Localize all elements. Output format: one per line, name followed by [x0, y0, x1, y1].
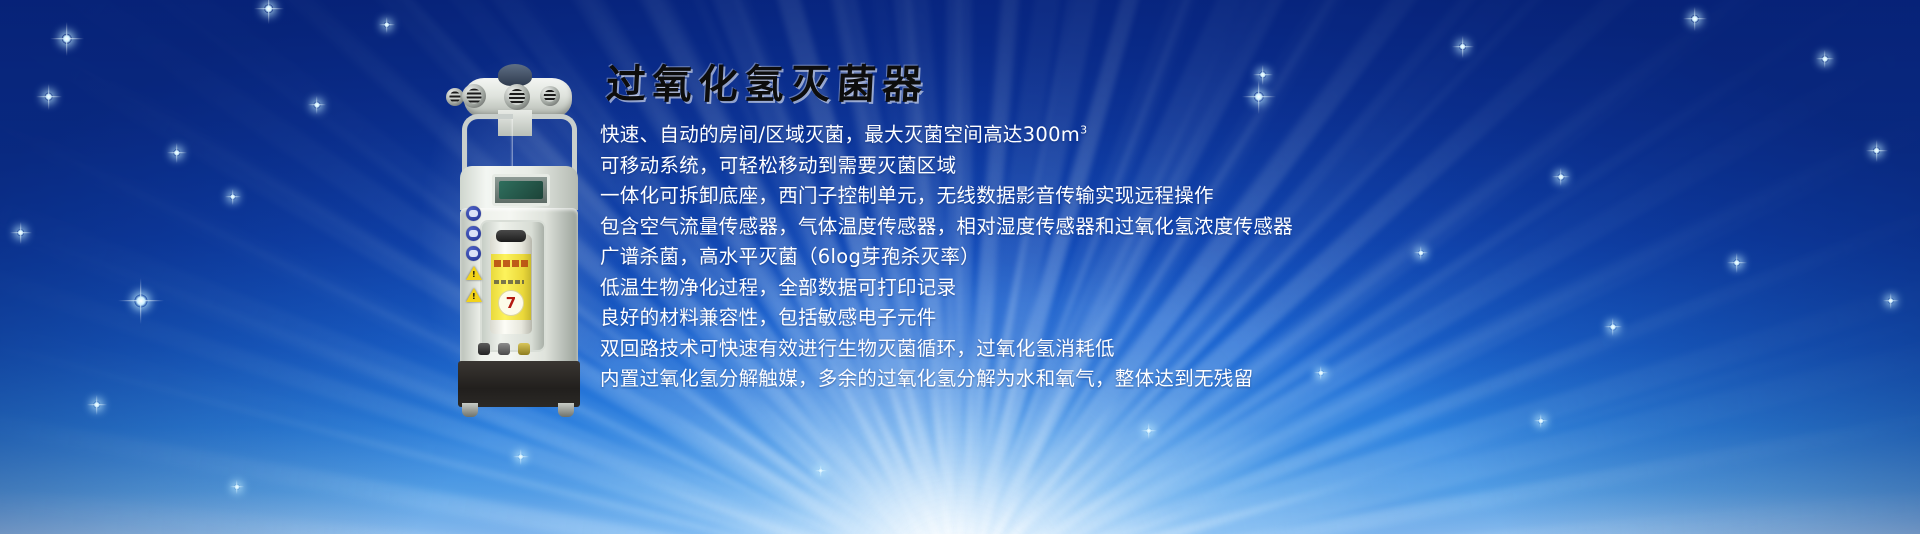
list-item: 内置过氧化氢分解触媒，多余的过氧化氢分解为水和氧气，整体达到无残留	[600, 364, 1580, 395]
safety-sticker-mask-icon	[466, 206, 481, 221]
control-screen	[492, 174, 550, 206]
nozzle-icon	[504, 84, 530, 110]
safety-sticker-goggles-icon	[466, 226, 481, 241]
list-item: 广谱杀菌，高水平灭菌（6log芽孢杀灭率）	[600, 242, 1580, 273]
safety-sticker-gloves-icon	[466, 246, 481, 261]
nozzle-icon	[462, 84, 486, 108]
list-item: 低温生物净化过程，全部数据可打印记录	[600, 273, 1580, 304]
feature-list: 快速、自动的房间/区域灭菌，最大灭菌空间高达300m3 可移动系统，可轻松移动到…	[600, 120, 1580, 395]
bottle-label-subtext	[494, 280, 524, 284]
caster-wheel-left	[462, 403, 478, 417]
list-item: 良好的材料兼容性，包括敏感电子元件	[600, 303, 1580, 334]
head-dome	[498, 64, 532, 86]
warning-triangle-icon	[466, 288, 482, 302]
page-title: 过氧化氢灭菌器	[605, 62, 1581, 108]
nozzle-icon	[540, 86, 560, 106]
banner-copy: 过氧化氢灭菌器 快速、自动的房间/区域灭菌，最大灭菌空间高达300m3 可移动系…	[600, 62, 1580, 395]
product-image-sterilizer: 7	[440, 58, 600, 378]
feature-text: 快速、自动的房间/区域灭菌，最大灭菌空间高达300m	[600, 123, 1080, 146]
warning-triangle-icon	[466, 266, 482, 280]
caster-wheel-right	[558, 403, 574, 417]
product-banner: 7 过氧化氢灭菌器 快速、自动的房间/区域灭菌，最大灭菌空间高达300m3 可移…	[0, 0, 1920, 534]
front-panel-controls	[478, 343, 540, 357]
list-item: 快速、自动的房间/区域灭菌，最大灭菌空间高达300m3	[600, 120, 1580, 151]
list-item: 可移动系统，可轻松移动到需要灭菌区域	[600, 151, 1580, 182]
list-item: 双回路技术可快速有效进行生物灭菌循环，过氧化氢消耗低	[600, 334, 1580, 365]
bottle-number-badge: 7	[498, 290, 524, 316]
list-item: 包含空气流量传感器，气体温度传感器，相对湿度传感器和过氧化氢浓度传感器	[600, 212, 1580, 243]
unit-superscript: 3	[1080, 124, 1087, 137]
sterilizer-base	[458, 361, 580, 407]
bottle-cap	[496, 230, 526, 242]
list-item: 一体化可拆卸底座，西门子控制单元，无线数据影音传输实现远程操作	[600, 181, 1580, 212]
bottle-label-text	[494, 260, 528, 267]
